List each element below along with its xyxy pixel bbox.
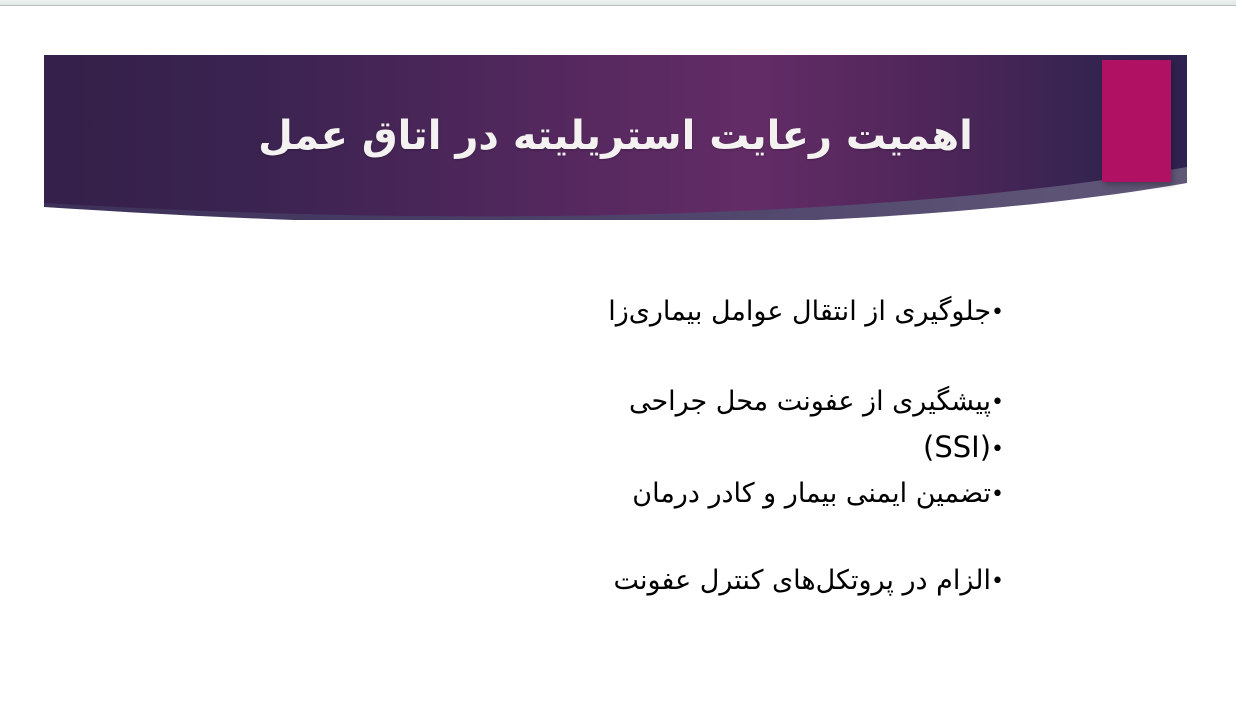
bullet-marker-icon: • — [991, 390, 1004, 415]
slide-title: اهمیت رعایت استریلیته در اتاق عمل — [44, 112, 1187, 160]
bullet-text-3: تضمین ایمنی بیمار و کادر درمان — [632, 478, 991, 509]
bullet-item-1: •جلوگیری از انتقال عوامل بیماری‌زا — [0, 290, 1004, 335]
bullet-item-2-continuation: •(SSI) — [0, 425, 1004, 472]
bullet-text-2-abbreviation: (SSI) — [923, 430, 991, 464]
bullet-item-3: •تضمین ایمنی بیمار و کادر درمان — [0, 472, 1004, 517]
bullet-text-1: جلوگیری از انتقال عوامل بیماری‌زا — [608, 296, 991, 327]
bullet-text-4: الزام در پروتکل‌های کنترل عفونت — [613, 565, 991, 596]
bullet-spacer-1 — [0, 335, 1004, 380]
bullet-item-2: •پیشگیری از عفونت محل جراحی — [0, 380, 1004, 425]
bullet-marker-icon: • — [991, 569, 1004, 594]
window-top-strip — [0, 0, 1236, 6]
slide-canvas: اهمیت رعایت استریلیته در اتاق عمل •جلوگی… — [0, 7, 1236, 703]
bullet-marker-icon: • — [991, 300, 1004, 325]
bullet-spacer-2 — [0, 517, 1004, 559]
bullet-text-2: پیشگیری از عفونت محل جراحی — [629, 386, 991, 417]
bullet-marker-icon: • — [991, 437, 1004, 462]
bullet-marker-icon: • — [991, 482, 1004, 507]
slide-body: •جلوگیری از انتقال عوامل بیماری‌زا •پیشگ… — [0, 290, 1004, 604]
bullet-item-4: •الزام در پروتکل‌های کنترل عفونت — [0, 559, 1004, 604]
